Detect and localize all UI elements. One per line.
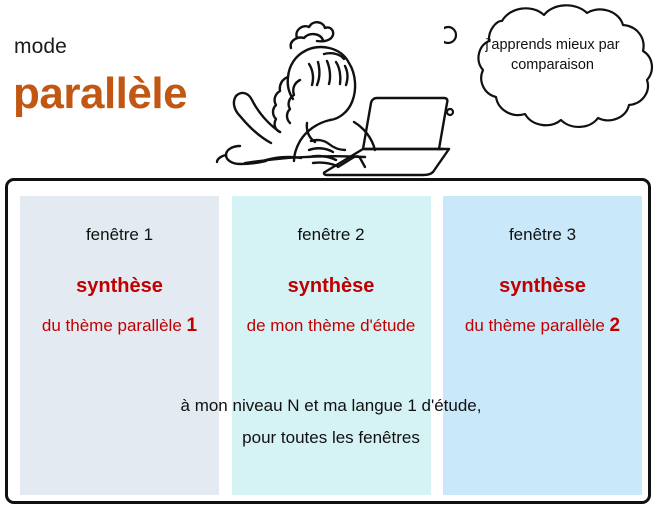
parallel-mode-diagram: fenêtre 1 synthèse du thème parallèle 1 … [5, 178, 651, 504]
student-at-laptop-icon [205, 0, 465, 178]
header-region: mode parallèle [0, 0, 657, 178]
synthese-label-3: synthèse [443, 275, 642, 297]
window-panel-1[interactable]: fenêtre 1 synthèse du thème parallèle 1 [20, 196, 219, 495]
theme-text-1: du thème parallèle 1 [20, 314, 219, 337]
theme-number-3: 2 [610, 315, 621, 336]
thought-bubble-text: j'apprends mieux par comparaison [475, 35, 630, 75]
mode-label: mode [14, 36, 67, 57]
window-label-3: fenêtre 3 [443, 225, 642, 245]
theme-description-2: de mon thème d'étude [247, 316, 416, 335]
window-panel-3[interactable]: fenêtre 3 synthèse du thème parallèle 2 [443, 196, 642, 495]
window-label-1: fenêtre 1 [20, 225, 219, 245]
mode-name-title: parallèle [13, 72, 187, 116]
window-label-2: fenêtre 2 [232, 225, 431, 245]
window-panel-2[interactable]: fenêtre 2 synthèse de mon thème d'étude [232, 196, 431, 495]
synthese-label-1: synthèse [20, 275, 219, 297]
window-panels-row: fenêtre 1 synthèse du thème parallèle 1 … [20, 196, 642, 495]
theme-text-2: de mon thème d'étude [232, 314, 431, 337]
theme-description-3: du thème parallèle [465, 316, 605, 335]
synthese-label-2: synthèse [232, 275, 431, 297]
theme-text-3: du thème parallèle 2 [443, 314, 642, 337]
theme-description-1: du thème parallèle [42, 316, 182, 335]
theme-number-1: 1 [187, 315, 198, 336]
